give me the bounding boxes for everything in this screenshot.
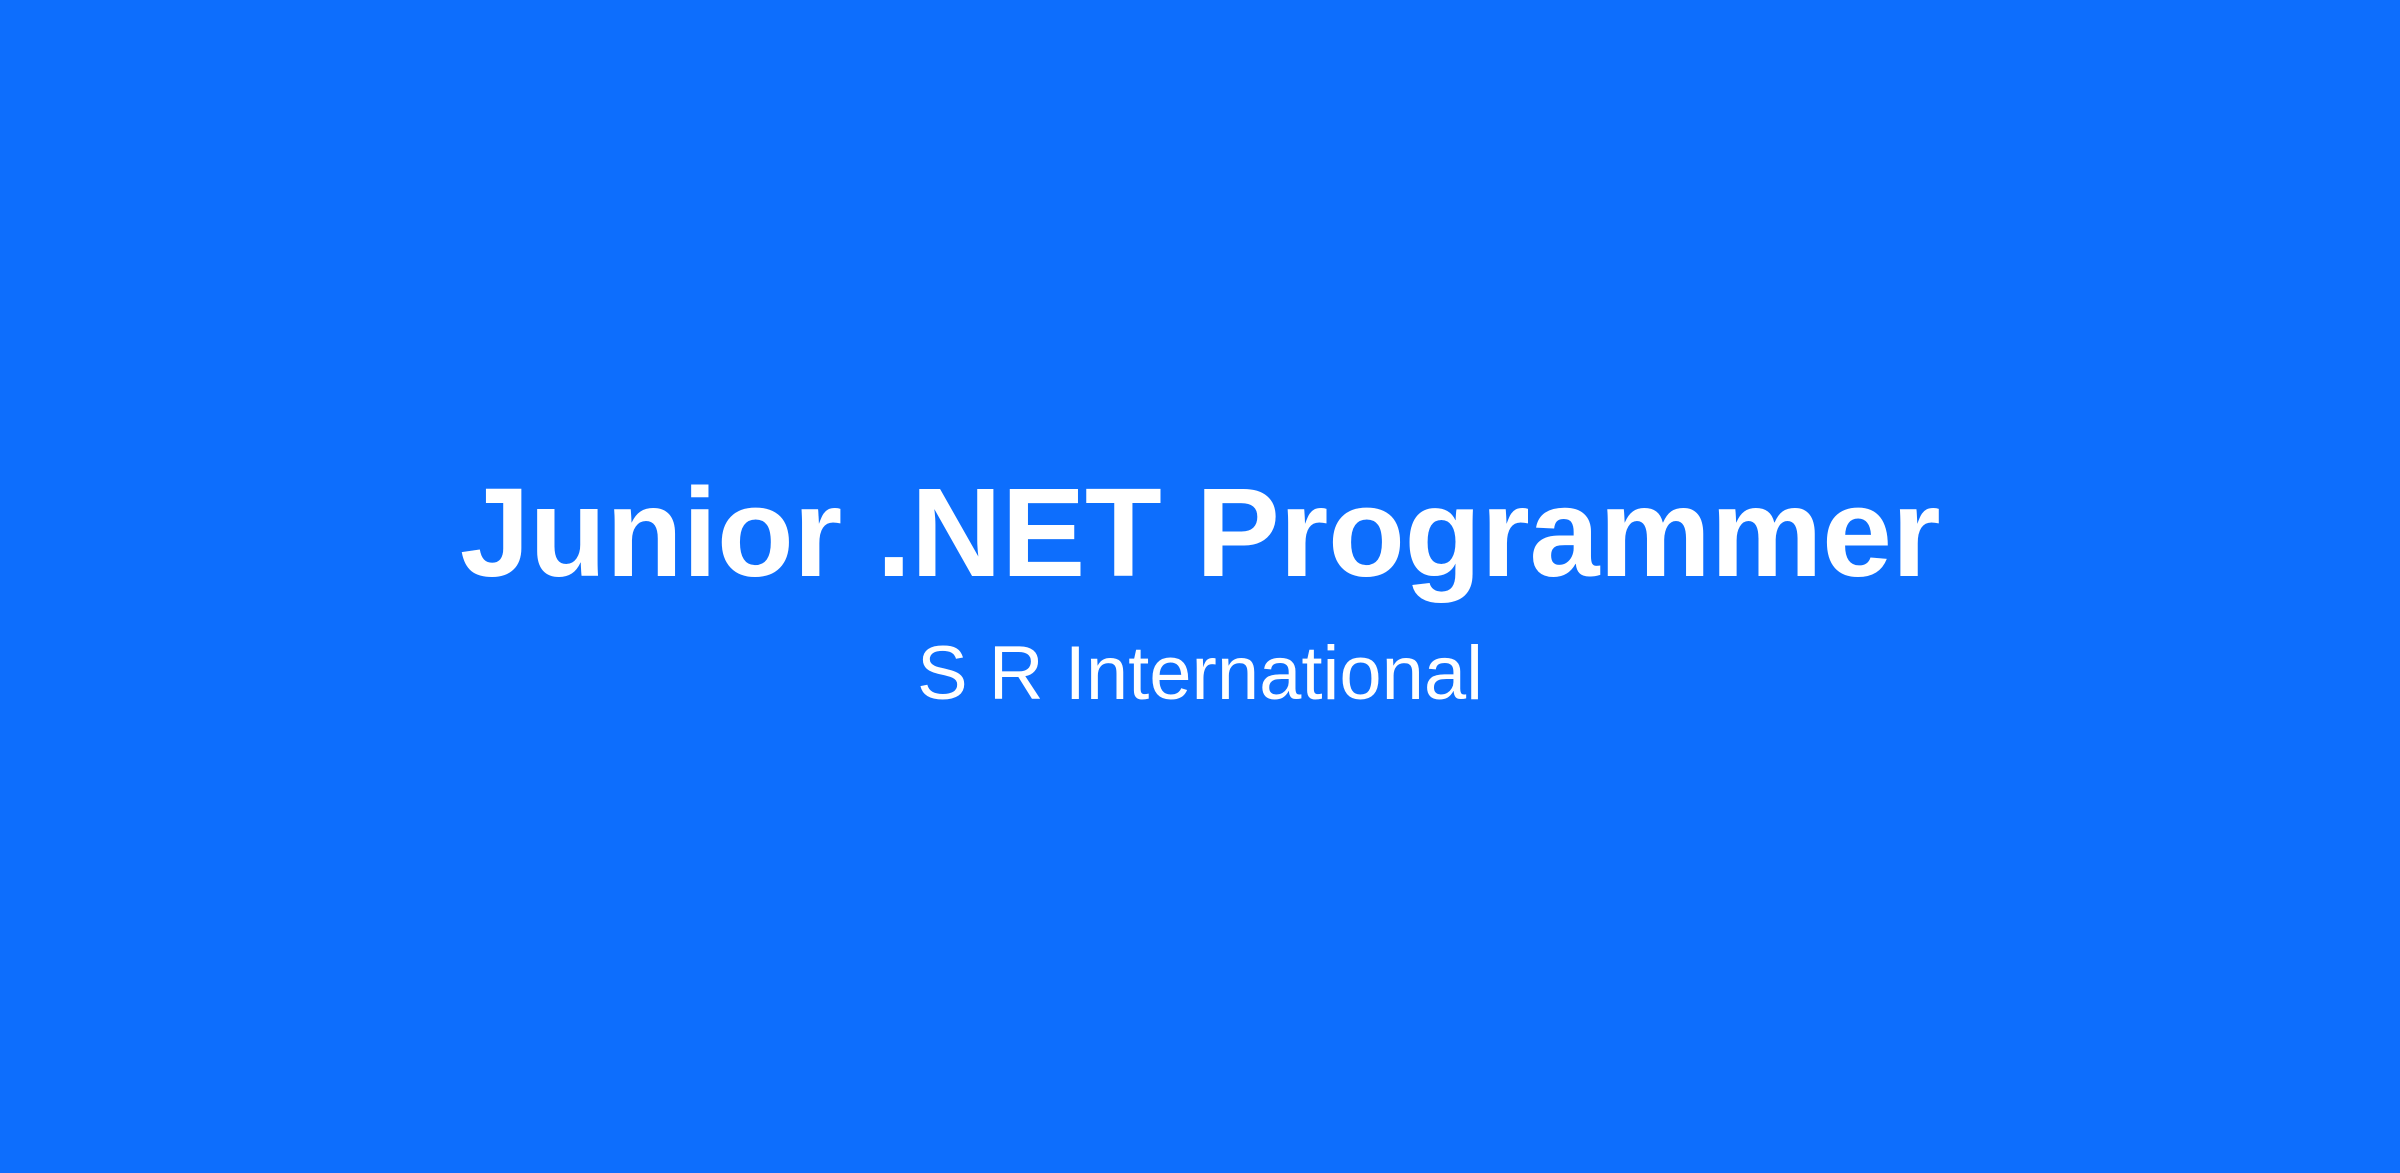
job-title: Junior .NET Programmer (460, 470, 1940, 596)
company-name: S R International (917, 636, 1483, 712)
banner-text-block: Junior .NET Programmer S R International (0, 470, 2400, 712)
job-posting-banner: Junior .NET Programmer S R International (0, 0, 2400, 1173)
